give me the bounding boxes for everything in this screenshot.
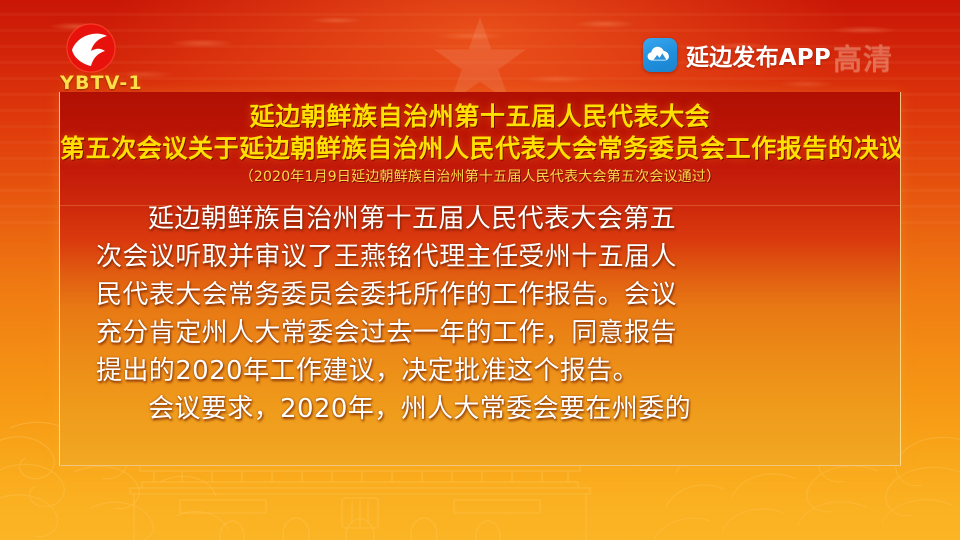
resolution-document-panel: 延边朝鲜族自治州第十五届人民代表大会 第五次会议关于延边朝鲜族自治州人民代表大会… <box>59 92 901 466</box>
body-line-4: 充分肯定州人大常委会过去一年的工作，同意报告 <box>96 314 864 352</box>
broadcast-screen: YBTV-1 延边发布APP 高清 延边朝鲜族自治州第十五届人民代表大会 第五次… <box>0 0 960 540</box>
channel-logo-label: YBTV-1 <box>60 72 143 94</box>
app-watermark: 延边发布APP <box>643 38 831 72</box>
body-line-6: 会议要求，2020年，州人大常委会要在州委的 <box>96 390 864 428</box>
ybtv-swoosh-logo-icon <box>65 22 117 74</box>
body-line-5: 提出的2020年工作建议，决定批准这个报告。 <box>96 352 864 390</box>
panel-divider <box>60 205 900 206</box>
cloud-mountain-app-icon <box>643 38 677 72</box>
body-line-3: 民代表大会常务委员会委托所作的工作报告。会议 <box>96 276 864 314</box>
title-block: 延边朝鲜族自治州第十五届人民代表大会 第五次会议关于延边朝鲜族自治州人民代表大会… <box>60 92 900 186</box>
title-line-1: 延边朝鲜族自治州第十五届人民代表大会 <box>60 101 900 133</box>
body-block: 延边朝鲜族自治州第十五届人民代表大会第五 次会议听取并审议了王燕铭代理主任受州十… <box>60 186 900 428</box>
app-watermark-label: 延边发布APP <box>686 38 831 72</box>
title-line-2: 第五次会议关于延边朝鲜族自治州人民代表大会常务委员会工作报告的决议 <box>60 133 900 165</box>
subtitle: （2020年1月9日延边朝鲜族自治州第十五届人民代表大会第五次会议通过） <box>60 168 900 186</box>
hd-badge: 高清 <box>833 36 893 78</box>
channel-logo: YBTV-1 <box>56 22 180 94</box>
body-line-2: 次会议听取并审议了王燕铭代理主任受州十五届人 <box>96 238 864 276</box>
